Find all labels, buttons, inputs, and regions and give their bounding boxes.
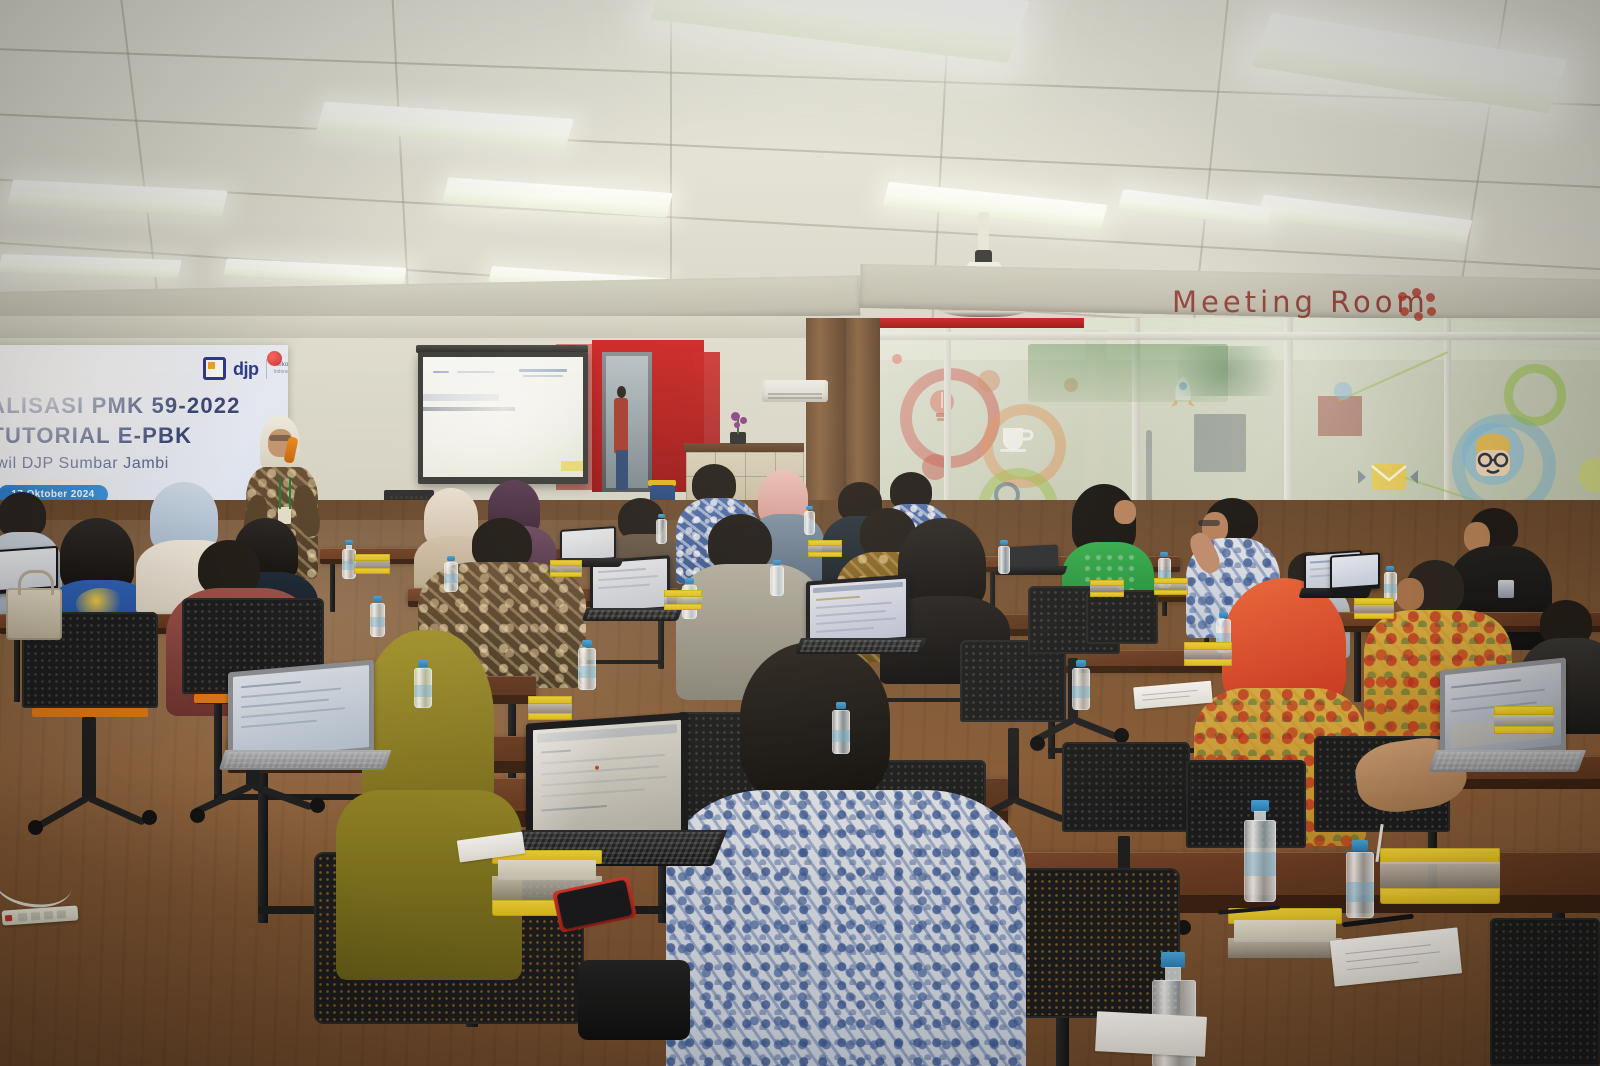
telkom-dot-icon xyxy=(267,351,282,366)
training-room-photo: djp Telkom Indonesia SIALISASI PMK 59-20… xyxy=(0,0,1600,1066)
red-ceiling-band xyxy=(878,318,1084,328)
laptop-screen xyxy=(810,579,906,644)
meeting-room-deco-icon xyxy=(1396,288,1440,324)
wall-band xyxy=(0,316,870,338)
djp-logo-word: djp xyxy=(233,360,259,378)
logo-divider xyxy=(266,359,267,379)
projector-screen xyxy=(423,357,583,477)
djp-mark-icon xyxy=(203,357,226,380)
banner-title-line2: N TUTORIAL E-PBK xyxy=(0,423,192,449)
backpack xyxy=(578,960,690,1040)
laptop-screen xyxy=(233,665,369,759)
attendee-hair xyxy=(740,642,890,802)
handbag-strap xyxy=(18,570,54,595)
telkom-logo-bottom: Indonesia xyxy=(274,369,289,375)
wall-air-conditioner xyxy=(762,380,828,402)
wall-poster xyxy=(694,352,720,452)
meeting-room-sign: Meeting Room xyxy=(1172,285,1429,319)
cabinet-counter xyxy=(684,443,804,452)
handbag[interactable] xyxy=(6,588,62,640)
banner-subtitle: Kanwil DJP Sumbar Jambi xyxy=(0,455,169,473)
paper-sheet[interactable] xyxy=(1095,1011,1207,1057)
back-doorway xyxy=(602,352,652,492)
shirt-emblem xyxy=(1498,580,1514,598)
laptop-screen xyxy=(533,720,681,842)
banner-title-line1: SIALISASI PMK 59-2022 xyxy=(0,393,241,419)
